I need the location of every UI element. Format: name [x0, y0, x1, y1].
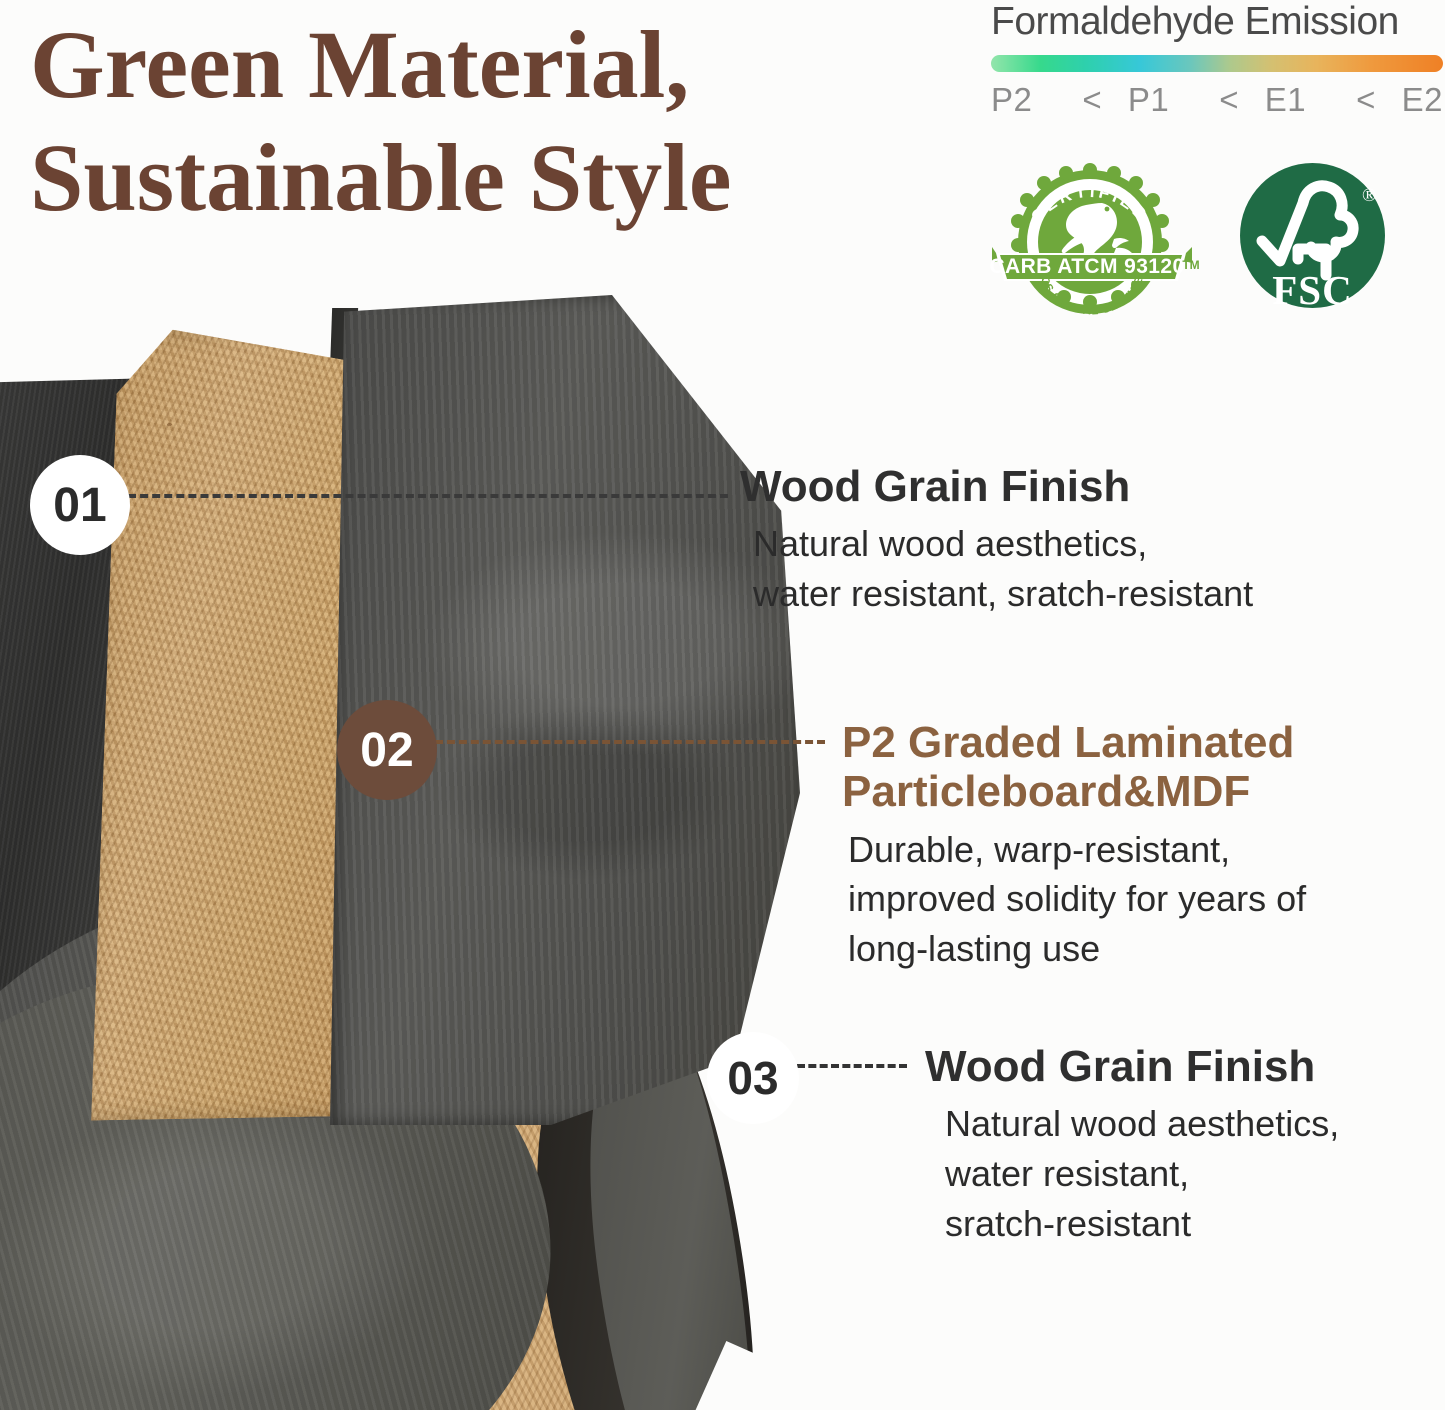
callout-02-title-line-2: Particleboard&MDF	[842, 767, 1250, 816]
fsc-certification-logo: ® FSC	[1240, 160, 1390, 320]
carb-certification-seal: CERTIFIED CARB ATCM 93120 TM SCS G	[990, 163, 1205, 321]
callout-03-body-line-2: water resistant,	[945, 1149, 1425, 1199]
carb-trademark: TM	[1182, 258, 1199, 272]
callout-01-body-line-1: Natural wood aesthetics,	[753, 519, 1430, 569]
fsc-registered-mark: ®	[1362, 185, 1376, 206]
page-title: Green Material, Sustainable Style	[30, 8, 990, 235]
carb-seal-icon: CERTIFIED CARB ATCM 93120 TM SCS G	[990, 163, 1205, 321]
callout-02-body: Durable, warp-resistant, improved solidi…	[842, 825, 1422, 974]
connector-line-02	[435, 740, 825, 744]
connector-line-03	[797, 1064, 907, 1068]
carb-banner-text: CARB ATCM 93120	[990, 255, 1185, 278]
callout-03-title: Wood Grain Finish	[925, 1042, 1425, 1091]
product-cross-section-image	[0, 250, 820, 1410]
callout-02-title: P2 Graded Laminated Particleboard&MDF	[842, 718, 1422, 817]
callout-03-body: Natural wood aesthetics, water resistant…	[925, 1099, 1425, 1248]
emission-label-p2: P2	[991, 81, 1057, 119]
callout-03-body-line-3: sratch-resistant	[945, 1199, 1425, 1249]
callout-badge-01: 01	[30, 455, 130, 555]
emission-scale: P2 < P1 < E1 < E2	[991, 81, 1443, 119]
emission-gradient-bar	[991, 55, 1443, 72]
callout-01-body-line-2: water resistant, sratch-resistant	[753, 569, 1430, 619]
callout-02: P2 Graded Laminated Particleboard&MDF Du…	[842, 718, 1422, 974]
emission-label-e2: E2	[1402, 81, 1443, 119]
certification-badges: CERTIFIED CARB ATCM 93120 TM SCS G	[990, 160, 1390, 325]
emission-lt-1: <	[1057, 81, 1128, 119]
headline-line-2: Sustainable Style	[30, 121, 990, 234]
callout-02-body-line-3: long-lasting use	[848, 924, 1422, 974]
callout-02-title-line-1: P2 Graded Laminated	[842, 718, 1294, 767]
fsc-label: FSC	[1240, 266, 1385, 314]
emission-title: Formaldehyde Emission	[991, 2, 1443, 43]
callout-badge-03: 03	[707, 1032, 799, 1124]
callout-02-body-line-2: improved solidity for years of	[848, 874, 1422, 924]
emission-label-p1: P1	[1128, 81, 1194, 119]
formaldehyde-emission-panel: Formaldehyde Emission P2 < P1 < E1 < E2	[991, 2, 1443, 119]
headline-line-1: Green Material,	[30, 11, 689, 118]
callout-02-body-line-1: Durable, warp-resistant,	[848, 825, 1422, 875]
emission-label-e1: E1	[1265, 81, 1331, 119]
callout-01: Wood Grain Finish Natural wood aesthetic…	[740, 462, 1430, 619]
emission-lt-3: <	[1330, 81, 1401, 119]
callout-01-body: Natural wood aesthetics, water resistant…	[740, 519, 1430, 618]
callout-badge-02: 02	[337, 700, 437, 800]
connector-line-01	[128, 494, 728, 498]
callout-03: Wood Grain Finish Natural wood aesthetic…	[925, 1042, 1425, 1248]
emission-lt-2: <	[1194, 81, 1265, 119]
callout-03-body-line-1: Natural wood aesthetics,	[945, 1099, 1425, 1149]
callout-01-title: Wood Grain Finish	[740, 462, 1430, 511]
